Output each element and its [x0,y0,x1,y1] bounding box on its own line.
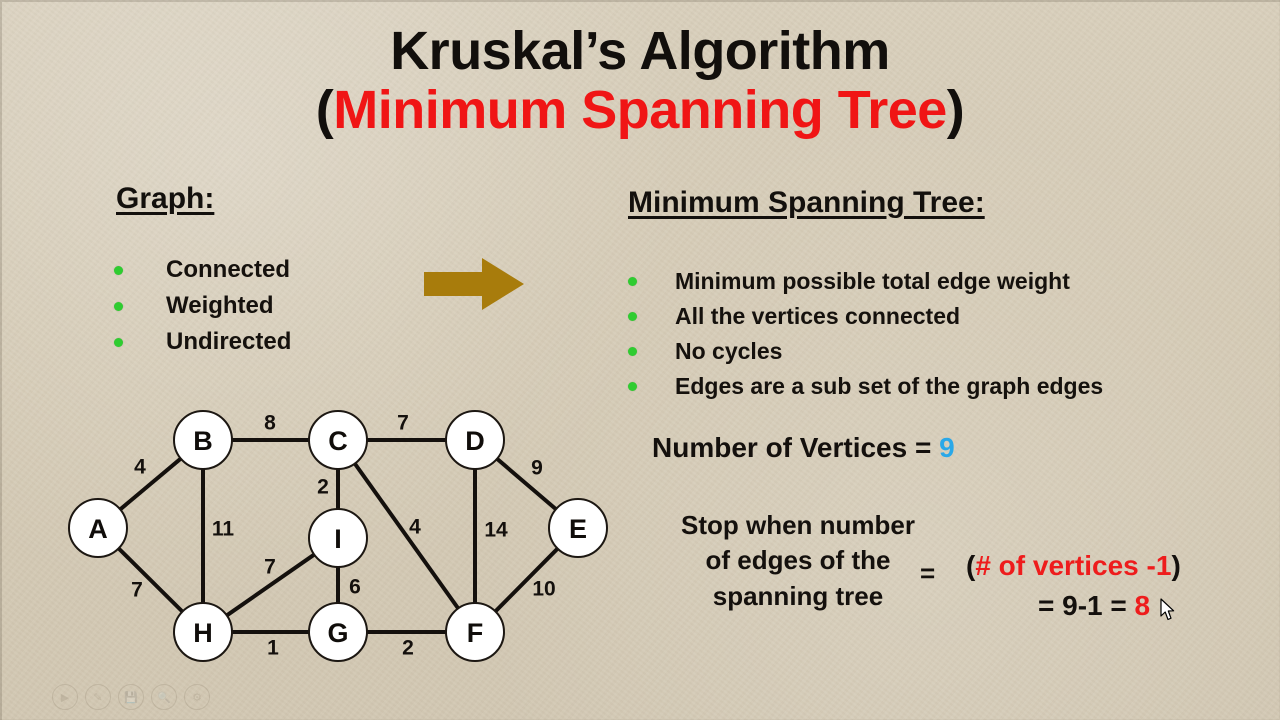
list-item: All the vertices connected [628,299,1103,334]
graph-node-label: B [193,426,213,456]
edge-weight-label: 9 [531,457,543,480]
stop-rule-result: = 9-1 = 8 [1038,590,1150,622]
result-value: 8 [1135,590,1151,621]
watermark: ▶ ✎ 💾 🔍 ⚙ [52,684,210,710]
search-icon: 🔍 [151,684,177,710]
bullet-dot-icon [114,338,123,347]
bullet-dot-icon [628,277,637,286]
graph-node-label: F [467,618,484,648]
stop-rule-formula: (# of vertices -1) [966,550,1181,582]
slide-content: Kruskal’s Algorithm (Minimum Spanning Tr… [0,0,1280,720]
bullet-dot-icon [628,347,637,356]
list-item: Edges are a sub set of the graph edges [628,369,1103,404]
stop-rule-equals: = [920,558,935,589]
graph-edge [354,462,460,610]
edge-weight-label: 2 [317,476,329,499]
title-paren-open: ( [316,80,333,140]
bullet-dot-icon [114,302,123,311]
list-item: No cycles [628,334,1103,369]
mst-section-heading: Minimum Spanning Tree: [628,186,985,220]
title-highlight: Minimum Spanning Tree [333,80,947,140]
graph-bullet-list: Connected Weighted Undirected [114,252,291,360]
formula-expression: # of vertices -1 [975,550,1171,581]
graph-node-label: E [569,514,587,544]
edge-weight-label: 4 [134,456,146,479]
graph-section-heading: Graph: [116,182,214,216]
edge-weight-label: 7 [264,556,276,579]
edge-weight-label: 2 [402,637,414,660]
bullet-label: Undirected [166,328,291,356]
result-prefix: = 9-1 = [1038,590,1135,621]
edge-weight-label: 4 [409,516,421,539]
edge-weight-label: 6 [349,576,361,599]
title-paren-close: ) [947,80,964,140]
page-title: Kruskal’s Algorithm (Minimum Spanning Tr… [0,24,1280,138]
bullet-label: Minimum possible total edge weight [675,268,1070,295]
vertices-label: Number of Vertices = [652,432,939,463]
graph-edge [117,547,184,613]
bullet-dot-icon [114,266,123,275]
edit-icon: ✎ [85,684,111,710]
edge-weight-label: 1 [267,637,279,660]
title-line-1: Kruskal’s Algorithm [0,24,1280,79]
list-item: Undirected [114,324,291,360]
bullet-label: Edges are a sub set of the graph edges [675,373,1103,400]
graph-node-label: A [88,514,108,544]
edge-weight-label: 10 [532,578,555,601]
mst-bullet-list: Minimum possible total edge weight All t… [628,264,1103,404]
vertices-count-value: 9 [939,432,955,463]
bullet-label: No cycles [675,338,782,365]
edge-weight-label: 7 [397,412,409,435]
edge-weight-label: 11 [212,518,235,541]
stop-rule-text: Stop when number of edges of the spannin… [668,508,928,614]
mouse-cursor [1160,598,1176,622]
graph-node-label: D [465,426,485,456]
vertices-count-line: Number of Vertices = 9 [652,432,955,464]
edge-weight-label: 8 [264,412,276,435]
right-arrow-icon [424,258,524,310]
graph-node-label: C [328,426,348,456]
list-item: Minimum possible total edge weight [628,264,1103,299]
graph-node-label: G [327,618,348,648]
title-line-2: (Minimum Spanning Tree) [0,83,1280,138]
bullet-dot-icon [628,312,637,321]
bullet-label: All the vertices connected [675,303,960,330]
graph-edge [119,457,183,510]
edge-weight-label: 14 [484,519,508,542]
list-item: Weighted [114,288,291,324]
play-icon: ▶ [52,684,78,710]
formula-paren-close: ) [1171,550,1180,581]
graph-diagram: 47811724914102167 ABCDEFGHI [55,395,635,685]
graph-nodes: ABCDEFGHI [69,411,607,661]
graph-edge [496,458,558,511]
edge-weight-label: 7 [131,579,143,602]
bullet-label: Connected [166,256,290,284]
graph-node-label: H [193,618,213,648]
settings-icon: ⚙ [184,684,210,710]
graph-node-label: I [334,524,342,554]
save-icon: 💾 [118,684,144,710]
formula-paren-open: ( [966,550,975,581]
bullet-label: Weighted [166,292,274,320]
list-item: Connected [114,252,291,288]
bullet-dot-icon [628,382,637,391]
